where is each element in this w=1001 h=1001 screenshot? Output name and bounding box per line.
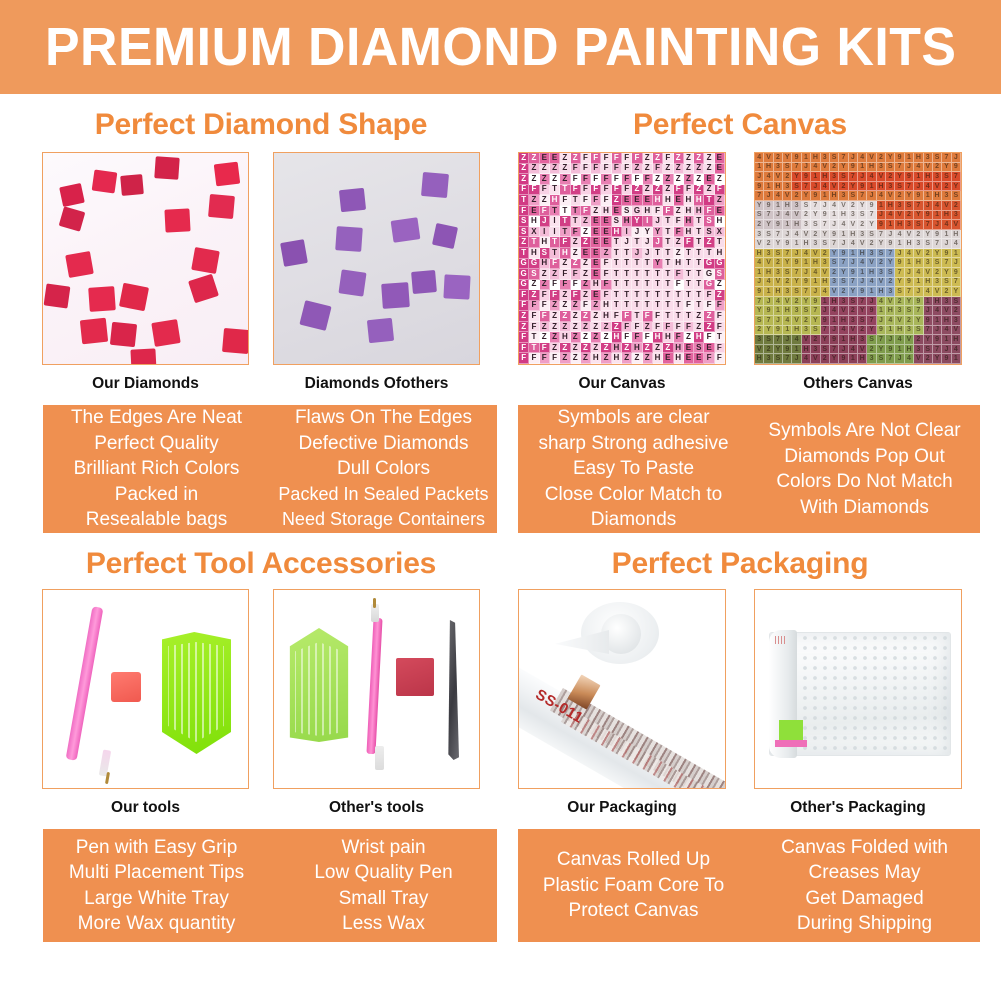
canvas-symbol-cell: S <box>877 354 886 364</box>
info-band-tools: Pen with Easy Grip Multi Placement Tips … <box>43 829 497 942</box>
canvas-symbol-cell: 7 <box>886 249 895 259</box>
canvas-symbol-cell: Z <box>632 353 642 364</box>
canvas-symbol-cell: 4 <box>774 191 783 201</box>
info-line: Symbols are clear <box>520 405 747 431</box>
canvas-symbol-cell: 7 <box>839 153 848 163</box>
mailer-contents-pink-icon <box>775 740 807 747</box>
canvas-symbol-cell: Z <box>591 332 601 343</box>
canvas-symbol-cell: E <box>694 353 704 364</box>
canvas-symbol-cell: Y <box>905 297 914 307</box>
section-canvas: Perfect Canvas ZZEEZZFFFFFFZZFZZZZEZZZZZ… <box>500 100 980 535</box>
canvas-symbol-cell: V <box>877 172 886 182</box>
canvas-symbol-cell: 7 <box>811 306 820 316</box>
canvas-symbol-cell: J <box>942 239 951 249</box>
canvas-symbol-cell: F <box>715 322 725 333</box>
info-col-others-diamond-shape: Flaws On The Edges Defective Diamonds Du… <box>270 405 497 533</box>
canvas-symbol-cell: 7 <box>895 268 904 278</box>
canvas-symbol-cell: 9 <box>849 268 858 278</box>
canvas-symbol-cell: 7 <box>830 345 839 355</box>
canvas-symbol-cell: E <box>591 248 601 259</box>
canvas-symbol-cell: T <box>663 227 673 238</box>
canvas-symbol-cell: Z <box>581 269 591 280</box>
canvas-symbol-cell: Z <box>581 353 591 364</box>
canvas-symbol-cell: S <box>821 239 830 249</box>
canvas-symbol-cell: V <box>886 191 895 201</box>
canvas-symbol-cell: 4 <box>877 297 886 307</box>
canvas-symbol-cell: 1 <box>849 354 858 364</box>
canvas-symbol-cell: 3 <box>877 268 886 278</box>
canvas-symbol-cell: T <box>643 290 653 301</box>
canvas-symbol-cell: Z <box>550 174 560 185</box>
canvas-symbol-cell: V <box>886 297 895 307</box>
canvas-symbol-cell: S <box>694 343 704 354</box>
canvas-symbol-cell: H <box>867 268 876 278</box>
canvas-symbol-cell: 3 <box>783 182 792 192</box>
diamond-chip <box>188 274 219 304</box>
canvas-symbol-cell: 1 <box>764 182 773 192</box>
canvas-symbol-cell: F <box>591 185 601 196</box>
canvas-symbol-cell: 2 <box>886 172 895 182</box>
info-line: Easy To Paste <box>520 456 747 482</box>
canvas-symbol-cell: Y <box>755 306 764 316</box>
canvas-symbol-cell: T <box>694 280 704 291</box>
canvas-symbol-cell: H <box>684 195 694 206</box>
pen-needle-icon <box>373 598 376 608</box>
canvas-symbol-cell: J <box>802 268 811 278</box>
canvas-symbol-cell: T <box>643 259 653 270</box>
canvas-symbol-cell: 7 <box>839 258 848 268</box>
canvas-symbol-cell: H <box>914 153 923 163</box>
canvas-symbol-cell: Z <box>560 322 570 333</box>
info-band-packaging: Canvas Rolled Up Plastic Foam Core To Pr… <box>518 829 980 942</box>
canvas-symbol-cell: 1 <box>811 278 820 288</box>
canvas-symbol-cell: 4 <box>933 201 942 211</box>
canvas-symbol-cell: F <box>612 164 622 175</box>
canvas-symbol-cell: S <box>914 220 923 230</box>
canvas-symbol-cell: 7 <box>867 211 876 221</box>
canvas-symbol-cell: 1 <box>867 287 876 297</box>
canvas-symbol-cell: 4 <box>802 354 811 364</box>
canvas-symbol-cell: 3 <box>895 201 904 211</box>
canvas-symbol-cell: Z <box>519 164 529 175</box>
canvas-symbol-cell: Z <box>601 332 611 343</box>
canvas-symbol-cell: 2 <box>895 191 904 201</box>
canvas-symbol-cell: J <box>774 211 783 221</box>
canvas-symbol-cell: E <box>591 290 601 301</box>
canvas-symbol-cell: H <box>612 227 622 238</box>
canvas-symbol-cell: 9 <box>905 172 914 182</box>
canvas-symbol-cell: T <box>632 311 642 322</box>
canvas-symbol-cell: F <box>519 301 529 312</box>
canvas-symbol-cell: I <box>540 227 550 238</box>
canvas-symbol-cell: H <box>933 191 942 201</box>
canvas-symbol-cell: Z <box>663 174 673 185</box>
canvas-symbol-cell: V <box>905 230 914 240</box>
canvas-symbol-cell: 4 <box>914 163 923 173</box>
canvas-symbol-cell: 3 <box>774 163 783 173</box>
canvas-symbol-cell: Y <box>858 201 867 211</box>
canvas-symbol-cell: 9 <box>905 278 914 288</box>
canvas-symbol-cell: S <box>849 191 858 201</box>
canvas-symbol-cell: Z <box>612 195 622 206</box>
drill-pen-icon <box>66 606 104 761</box>
canvas-symbol-cell: V <box>858 345 867 355</box>
canvas-symbol-cell: T <box>632 301 642 312</box>
canvas-symbol-cell: 9 <box>858 182 867 192</box>
canvas-symbol-cell: 3 <box>952 211 961 221</box>
canvas-symbol-cell: 7 <box>755 297 764 307</box>
canvas-symbol-cell: 9 <box>764 201 773 211</box>
canvas-symbol-cell: 4 <box>755 258 764 268</box>
canvas-symbol-cell: 1 <box>830 211 839 221</box>
canvas-symbol-cell: F <box>550 353 560 364</box>
canvas-symbol-cell: 3 <box>867 354 876 364</box>
canvas-symbol-cell: Z <box>560 259 570 270</box>
canvas-symbol-cell: F <box>684 301 694 312</box>
canvas-symbol-cell: J <box>755 172 764 182</box>
canvas-symbol-cell: 2 <box>764 239 773 249</box>
canvas-symbol-cell: Y <box>643 227 653 238</box>
canvas-symbol-cell: 4 <box>849 239 858 249</box>
canvas-symbol-cell: Y <box>933 249 942 259</box>
canvas-symbol-cell: 9 <box>858 287 867 297</box>
canvas-symbol-cell: 7 <box>867 316 876 326</box>
canvas-symbol-cell: S <box>942 172 951 182</box>
canvas-symbol-cell: 1 <box>764 287 773 297</box>
canvas-symbol-cell: J <box>895 354 904 364</box>
info-line: Canvas Folded with <box>751 835 978 861</box>
caption-row-packaging: Our Packaging Other's Packaging <box>500 799 980 817</box>
canvas-symbol-cell: H <box>802 345 811 355</box>
diamond-chip <box>367 318 394 343</box>
canvas-symbol-cell: Y <box>924 335 933 345</box>
canvas-symbol-cell: I <box>622 227 632 238</box>
caption-other-diamonds: Diamonds Ofothers <box>273 375 480 393</box>
canvas-symbol-cell: 3 <box>942 297 951 307</box>
canvas-symbol-cell: H <box>942 211 951 221</box>
canvas-symbol-cell: F <box>601 280 611 291</box>
canvas-symbol-cell: F <box>519 343 529 354</box>
canvas-symbol-cell: F <box>622 322 632 333</box>
canvas-symbol-cell: 1 <box>774 201 783 211</box>
canvas-symbol-cell: Y <box>792 278 801 288</box>
canvas-symbol-cell: E <box>663 353 673 364</box>
canvas-symbol-cell: Z <box>704 322 714 333</box>
canvas-symbol-cell: E <box>704 174 714 185</box>
canvas-symbol-cell: Y <box>821 335 830 345</box>
canvas-symbol-cell: 2 <box>821 354 830 364</box>
our-canvas-symbol-grid: ZZEEZZFFFFFFZZFZZZZEZZZZZFFFFFFZZFZZZZZE… <box>519 153 725 364</box>
info-line: Canvas Rolled Up <box>520 847 747 873</box>
canvas-symbol-cell: 9 <box>830 230 839 240</box>
canvas-symbol-cell: 4 <box>792 230 801 240</box>
diamond-chip <box>299 300 331 331</box>
diamond-chip <box>119 283 149 312</box>
canvas-symbol-cell: 3 <box>839 191 848 201</box>
canvas-symbol-cell: Z <box>519 322 529 333</box>
canvas-symbol-cell: Z <box>612 322 622 333</box>
info-line: Perfect Quality <box>45 431 268 457</box>
canvas-symbol-cell: J <box>905 163 914 173</box>
canvas-symbol-cell: T <box>674 311 684 322</box>
canvas-symbol-cell: 9 <box>914 297 923 307</box>
canvas-symbol-cell: 3 <box>764 354 773 364</box>
canvas-symbol-cell: H <box>802 239 811 249</box>
canvas-symbol-cell: 7 <box>821 326 830 336</box>
canvas-symbol-cell: T <box>704 248 714 259</box>
canvas-symbol-cell: T <box>715 237 725 248</box>
canvas-symbol-cell: H <box>858 249 867 259</box>
canvas-symbol-cell: 7 <box>952 172 961 182</box>
canvas-symbol-cell: J <box>933 220 942 230</box>
canvas-symbol-cell: F <box>622 185 632 196</box>
canvas-symbol-cell: 9 <box>933 335 942 345</box>
canvas-symbol-cell: H <box>674 353 684 364</box>
info-col-ours-canvas: Symbols are clear sharp Strong adhesive … <box>518 405 749 533</box>
canvas-symbol-cell: 2 <box>792 191 801 201</box>
canvas-symbol-cell: Z <box>601 353 611 364</box>
canvas-symbol-cell: H <box>653 332 663 343</box>
canvas-symbol-cell: T <box>560 227 570 238</box>
canvas-symbol-cell: Z <box>529 290 539 301</box>
canvas-symbol-cell: G <box>704 259 714 270</box>
canvas-symbol-cell: V <box>783 191 792 201</box>
canvas-symbol-cell: Z <box>540 322 550 333</box>
canvas-symbol-cell: 9 <box>774 220 783 230</box>
canvas-symbol-cell: 2 <box>849 306 858 316</box>
canvas-symbol-cell: Y <box>755 201 764 211</box>
canvas-symbol-cell: 1 <box>830 316 839 326</box>
photo-row-canvas: ZZEEZZFFFFFFZZFZZZZEZZZZZFFFFFFZZFZZZZZE… <box>500 152 980 365</box>
canvas-symbol-cell: Z <box>550 301 560 312</box>
canvas-symbol-cell: 3 <box>849 316 858 326</box>
canvas-symbol-cell: Y <box>839 268 848 278</box>
canvas-symbol-cell: Z <box>550 164 560 175</box>
canvas-symbol-cell: 9 <box>792 153 801 163</box>
canvas-symbol-cell: V <box>914 249 923 259</box>
canvas-symbol-cell: 9 <box>783 345 792 355</box>
canvas-symbol-cell: Z <box>581 280 591 291</box>
canvas-symbol-cell: 4 <box>821 287 830 297</box>
canvas-symbol-cell: J <box>755 278 764 288</box>
canvas-symbol-cell: V <box>942 201 951 211</box>
canvas-symbol-cell: 7 <box>942 258 951 268</box>
canvas-symbol-cell: S <box>704 227 714 238</box>
canvas-symbol-cell: 7 <box>802 287 811 297</box>
canvas-symbol-cell: S <box>886 268 895 278</box>
canvas-symbol-cell: Z <box>560 301 570 312</box>
canvas-symbol-cell: H <box>849 335 858 345</box>
canvas-symbol-cell: T <box>694 259 704 270</box>
info-line: Get Damaged <box>751 886 978 912</box>
canvas-symbol-cell: H <box>529 216 539 227</box>
pen-needle-icon <box>105 772 110 784</box>
canvas-symbol-cell: 9 <box>821 316 830 326</box>
diamond-chip <box>59 206 86 231</box>
canvas-symbol-cell: 9 <box>924 211 933 221</box>
canvas-symbol-cell: T <box>663 311 673 322</box>
canvas-symbol-cell: Z <box>704 237 714 248</box>
canvas-symbol-cell: Z <box>684 164 694 175</box>
canvas-symbol-cell: 2 <box>886 278 895 288</box>
canvas-symbol-cell: 2 <box>914 230 923 240</box>
canvas-symbol-cell: 3 <box>914 239 923 249</box>
canvas-symbol-cell: H <box>540 237 550 248</box>
canvas-symbol-cell: T <box>622 290 632 301</box>
canvas-symbol-cell: 4 <box>849 345 858 355</box>
canvas-symbol-cell: 7 <box>774 230 783 240</box>
canvas-symbol-cell: 4 <box>886 316 895 326</box>
canvas-symbol-cell: Y <box>821 230 830 240</box>
canvas-symbol-cell: 1 <box>802 258 811 268</box>
canvas-symbol-cell: Z <box>715 195 725 206</box>
canvas-symbol-cell: J <box>905 268 914 278</box>
diamond-chip <box>88 286 116 312</box>
canvas-symbol-cell: 4 <box>952 239 961 249</box>
canvas-symbol-cell: 1 <box>792 239 801 249</box>
canvas-symbol-cell: E <box>550 153 560 164</box>
canvas-symbol-cell: J <box>933 326 942 336</box>
canvas-symbol-cell: 4 <box>942 326 951 336</box>
canvas-symbol-cell: G <box>519 280 529 291</box>
canvas-symbol-cell: T <box>684 311 694 322</box>
canvas-symbol-cell: 7 <box>755 191 764 201</box>
canvas-symbol-cell: E <box>591 227 601 238</box>
canvas-symbol-cell: 9 <box>895 153 904 163</box>
canvas-symbol-cell: F <box>601 195 611 206</box>
canvas-symbol-cell: F <box>715 185 725 196</box>
canvas-symbol-cell: 3 <box>830 172 839 182</box>
info-line: Multi Placement Tips <box>45 860 268 886</box>
canvas-symbol-cell: 9 <box>849 163 858 173</box>
canvas-symbol-cell: V <box>933 182 942 192</box>
canvas-symbol-cell: H <box>663 195 673 206</box>
canvas-symbol-cell: E <box>591 216 601 227</box>
canvas-symbol-cell: 3 <box>933 172 942 182</box>
canvas-symbol-cell: Y <box>849 182 858 192</box>
canvas-symbol-cell: Z <box>581 311 591 322</box>
info-line: Diamonds <box>520 507 747 533</box>
canvas-symbol-cell: Z <box>643 164 653 175</box>
section-title-diamond-shape: Perfect Diamond Shape <box>22 108 500 142</box>
canvas-symbol-cell: G <box>704 280 714 291</box>
caption-row-diamond-shape: Our Diamonds Diamonds Ofothers <box>22 375 500 393</box>
canvas-symbol-cell: V <box>858 239 867 249</box>
canvas-symbol-cell: 7 <box>924 220 933 230</box>
canvas-symbol-cell: F <box>571 280 581 291</box>
canvas-symbol-cell: E <box>715 206 725 217</box>
info-line: Low Quality Pen <box>272 860 495 886</box>
canvas-symbol-cell: J <box>830 220 839 230</box>
canvas-symbol-cell: S <box>952 297 961 307</box>
canvas-symbol-cell: T <box>519 195 529 206</box>
canvas-symbol-cell: F <box>519 290 529 301</box>
canvas-symbol-cell: S <box>764 230 773 240</box>
canvas-symbol-cell: E <box>591 259 601 270</box>
canvas-symbol-cell: 2 <box>924 249 933 259</box>
canvas-symbol-cell: Z <box>684 153 694 164</box>
canvas-symbol-cell: H <box>905 239 914 249</box>
canvas-symbol-cell: H <box>612 343 622 354</box>
canvas-symbol-cell: F <box>674 269 684 280</box>
canvas-symbol-cell: T <box>632 237 642 248</box>
canvas-symbol-cell: T <box>653 290 663 301</box>
canvas-symbol-cell: 9 <box>802 172 811 182</box>
canvas-symbol-cell: J <box>858 172 867 182</box>
canvas-symbol-cell: F <box>622 164 632 175</box>
canvas-symbol-cell: Z <box>519 237 529 248</box>
canvas-symbol-cell: 9 <box>821 211 830 221</box>
canvas-symbol-cell: 7 <box>764 211 773 221</box>
pen-grip-icon <box>375 746 384 770</box>
canvas-symbol-cell: J <box>952 153 961 163</box>
canvas-symbol-cell: 3 <box>886 287 895 297</box>
canvas-symbol-cell: H <box>764 163 773 173</box>
canvas-symbol-cell: 9 <box>755 287 764 297</box>
canvas-symbol-cell: F <box>571 290 581 301</box>
canvas-symbol-cell: 9 <box>914 191 923 201</box>
canvas-symbol-cell: Z <box>550 322 560 333</box>
canvas-symbol-cell: 2 <box>877 258 886 268</box>
canvas-symbol-cell: 1 <box>924 297 933 307</box>
canvas-symbol-cell: 4 <box>821 182 830 192</box>
canvas-symbol-cell: E <box>540 153 550 164</box>
canvas-symbol-cell: 2 <box>839 287 848 297</box>
canvas-symbol-cell: 3 <box>858 230 867 240</box>
canvas-symbol-cell: 1 <box>952 249 961 259</box>
caption-our-diamonds: Our Diamonds <box>42 375 249 393</box>
canvas-symbol-cell: J <box>867 191 876 201</box>
info-col-others-packaging: Canvas Folded with Creases May Get Damag… <box>749 835 980 937</box>
info-line: Packed In Sealed Packets <box>272 482 495 508</box>
canvas-symbol-cell: H <box>643 206 653 217</box>
canvas-symbol-cell: Y <box>830 249 839 259</box>
canvas-symbol-cell: T <box>632 259 642 270</box>
canvas-symbol-cell: 2 <box>802 211 811 221</box>
photo-other-diamonds <box>273 152 480 365</box>
canvas-symbol-cell: 7 <box>783 354 792 364</box>
canvas-symbol-cell: 4 <box>867 278 876 288</box>
canvas-symbol-cell: F <box>684 322 694 333</box>
canvas-symbol-cell: H <box>632 343 642 354</box>
canvas-symbol-cell: 3 <box>895 306 904 316</box>
canvas-symbol-cell: H <box>792 326 801 336</box>
canvas-symbol-cell: Z <box>653 343 663 354</box>
canvas-symbol-cell: Z <box>571 248 581 259</box>
canvas-symbol-cell: Z <box>550 343 560 354</box>
canvas-symbol-cell: 3 <box>811 345 820 355</box>
canvas-symbol-cell: H <box>821 172 830 182</box>
canvas-symbol-cell: Z <box>529 174 539 185</box>
canvas-symbol-cell: V <box>755 345 764 355</box>
canvas-symbol-cell: F <box>591 153 601 164</box>
canvas-symbol-cell: 7 <box>858 297 867 307</box>
canvas-symbol-cell: 9 <box>952 163 961 173</box>
canvas-symbol-cell: F <box>601 259 611 270</box>
canvas-symbol-cell: S <box>774 354 783 364</box>
canvas-symbol-cell: 7 <box>877 335 886 345</box>
canvas-symbol-cell: Y <box>942 268 951 278</box>
diamond-chip <box>151 319 180 347</box>
canvas-symbol-cell: 1 <box>839 230 848 240</box>
canvas-symbol-cell: J <box>867 297 876 307</box>
canvas-symbol-cell: T <box>622 280 632 291</box>
canvas-symbol-cell: T <box>632 269 642 280</box>
canvas-symbol-cell: 9 <box>877 326 886 336</box>
canvas-symbol-cell: Z <box>694 185 704 196</box>
canvas-symbol-cell: 4 <box>895 335 904 345</box>
other-canvas-symbol-grid: 4V2Y91H3S7J4V2Y91H3S7J1H3S7J4V2Y91H3S7J4… <box>755 153 961 364</box>
